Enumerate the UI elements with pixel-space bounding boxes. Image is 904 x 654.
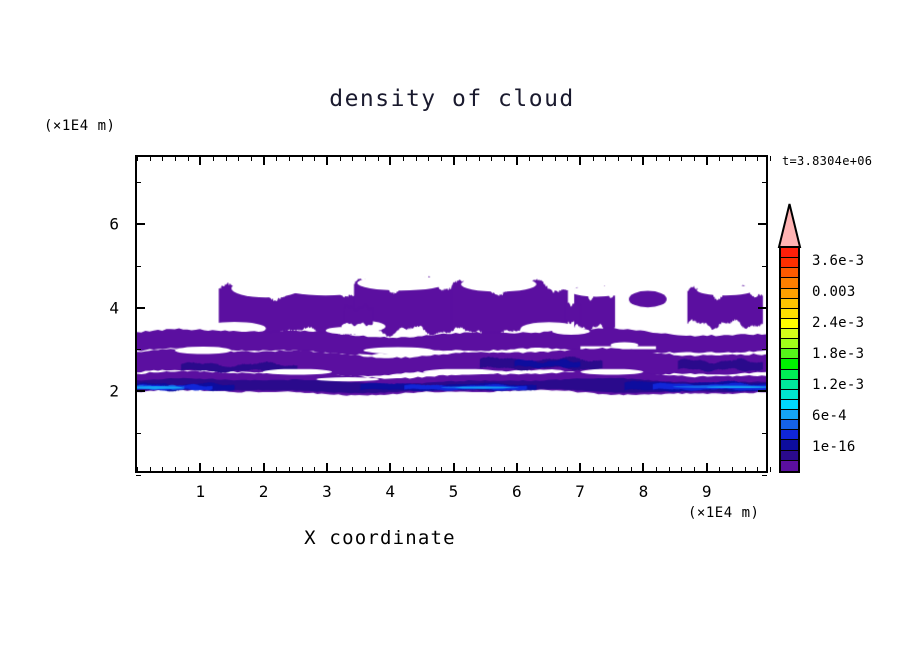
x-tick [579,463,581,472]
x-tick [276,156,277,161]
colorbar-band [781,268,798,278]
x-tick [289,467,290,472]
x-tick [618,467,619,472]
y-tick [758,307,767,309]
x-tick [326,463,328,472]
x-tick [162,467,163,472]
x-tick [516,156,518,165]
colorbar-band [781,329,798,339]
x-tick [479,156,480,161]
colorbar-band [781,278,798,288]
x-tick [213,156,214,161]
y-tick [136,390,145,392]
x-tick-label: 4 [385,482,395,501]
y-tick [762,266,767,267]
x-tick [403,156,404,161]
y-axis-unit-label: (×1E4 m) [44,118,115,134]
x-tick [567,467,568,472]
x-tick [542,156,543,161]
chart-title: density of cloud [0,86,904,112]
x-tick [770,467,771,472]
x-tick [441,467,442,472]
x-tick [631,467,632,472]
x-tick [529,156,530,161]
colorbar-band [781,248,798,258]
colorbar-tick-label: 6e-4 [812,408,847,424]
x-tick [378,156,379,161]
x-tick [352,156,353,161]
x-tick [441,156,442,161]
colorbar-tick-label: 0.003 [812,284,856,300]
x-tick [428,467,429,472]
x-tick [238,467,239,472]
x-tick [669,467,670,472]
x-tick [618,156,619,161]
plot-area: 123456789 246 [135,155,768,473]
colorbar-band [781,390,798,400]
x-tick [491,467,492,472]
x-tick [491,156,492,161]
x-tick [302,467,303,472]
x-tick [681,156,682,161]
x-tick-label: 9 [702,482,712,501]
y-tick [136,349,141,350]
x-axis-title: X coordinate [0,527,760,549]
y-tick [136,307,145,309]
x-tick [238,156,239,161]
x-tick [466,467,467,472]
colorbar-tick-label: 1e-16 [812,439,856,455]
x-tick-label: 7 [575,482,585,501]
colorbar-tick-label: 1.8e-3 [812,346,864,362]
x-tick [137,156,138,161]
y-tick [136,223,145,225]
x-tick [694,156,695,161]
x-tick [162,156,163,161]
x-tick [694,467,695,472]
x-tick [302,156,303,161]
y-tick [762,182,767,183]
x-tick [504,467,505,472]
colorbar-band [781,349,798,359]
colorbar [779,246,800,473]
x-tick [567,156,568,161]
x-tick [416,156,417,161]
x-tick [593,467,594,472]
x-tick [466,156,467,161]
x-tick [428,156,429,161]
x-tick [137,467,138,472]
x-tick [719,156,720,161]
colorbar-band [781,420,798,430]
x-tick [453,156,455,165]
x-tick [732,156,733,161]
x-tick-label: 2 [259,482,269,501]
x-tick [681,467,682,472]
y-tick [136,266,141,267]
y-tick [136,433,141,434]
x-tick [226,467,227,472]
colorbar-band [781,299,798,309]
colorbar-band [781,339,798,349]
x-tick [631,156,632,161]
x-tick [542,467,543,472]
x-tick [314,156,315,161]
x-tick-label: 3 [322,482,332,501]
x-tick [453,463,455,472]
timestamp-annotation: t=3.8304e+06 [782,154,872,168]
x-tick [579,156,581,165]
x-tick-label: 5 [449,482,459,501]
x-tick [757,156,758,161]
x-tick [378,467,379,472]
colorbar-band [781,400,798,410]
colorbar-band [781,461,798,471]
x-tick [656,156,657,161]
x-tick [326,156,328,165]
colorbar-tick-label: 1.2e-3 [812,377,864,393]
x-tick [416,467,417,472]
colorbar-band [781,289,798,299]
x-tick [745,156,746,161]
x-tick [389,156,391,165]
x-tick [365,467,366,472]
y-tick-label: 4 [109,298,119,317]
colorbar-band [781,370,798,380]
x-tick-label: 8 [639,482,649,501]
x-tick [504,156,505,161]
x-tick [314,467,315,472]
x-tick [516,463,518,472]
x-tick [757,467,758,472]
x-tick-label: 1 [195,482,205,501]
x-tick [150,156,151,161]
x-tick [593,156,594,161]
colorbar-band [781,309,798,319]
x-tick [403,467,404,472]
x-tick [199,156,201,165]
colorbar-tick-label: 3.6e-3 [812,253,864,269]
y-tick [758,390,767,392]
y-tick [758,223,767,225]
x-tick [251,156,252,161]
x-tick [605,467,606,472]
x-tick [263,463,265,472]
x-tick-label: 6 [512,482,522,501]
x-tick [745,467,746,472]
x-tick [199,463,201,472]
x-tick [669,156,670,161]
x-tick [188,467,189,472]
x-tick [175,156,176,161]
x-tick [352,467,353,472]
colorbar-band [781,359,798,369]
x-tick [226,156,227,161]
colorbar-band [781,440,798,450]
y-tick-label: 2 [109,382,119,401]
colorbar-band [781,430,798,440]
x-tick [642,463,644,472]
colorbar-band [781,380,798,390]
x-tick [706,156,708,165]
colorbar-band [781,319,798,329]
colorbar-band [781,410,798,420]
x-axis-unit-label: (×1E4 m) [688,505,759,521]
x-tick [770,156,771,161]
x-tick [389,463,391,472]
y-tick-label: 6 [109,214,119,233]
x-tick [213,467,214,472]
x-tick [365,156,366,161]
x-tick [605,156,606,161]
x-tick [555,156,556,161]
colorbar-over-arrow-icon [777,203,802,248]
x-tick [289,156,290,161]
x-tick [251,467,252,472]
x-tick [276,467,277,472]
x-tick [732,467,733,472]
x-tick [340,467,341,472]
x-tick [188,156,189,161]
colorbar-band [781,258,798,268]
y-tick [762,349,767,350]
colorbar-band [781,451,798,461]
cloud-density-canvas [137,157,766,471]
y-tick [136,182,141,183]
x-tick [340,156,341,161]
x-tick [479,467,480,472]
colorbar-tick-label: 2.4e-3 [812,315,864,331]
x-tick [555,467,556,472]
x-tick [706,463,708,472]
y-tick [762,475,767,476]
x-tick [150,467,151,472]
x-tick [529,467,530,472]
x-tick [642,156,644,165]
y-tick [136,475,141,476]
x-tick [263,156,265,165]
y-tick [762,433,767,434]
x-tick [719,467,720,472]
x-tick [656,467,657,472]
x-tick [175,467,176,472]
contour-field [137,157,766,471]
